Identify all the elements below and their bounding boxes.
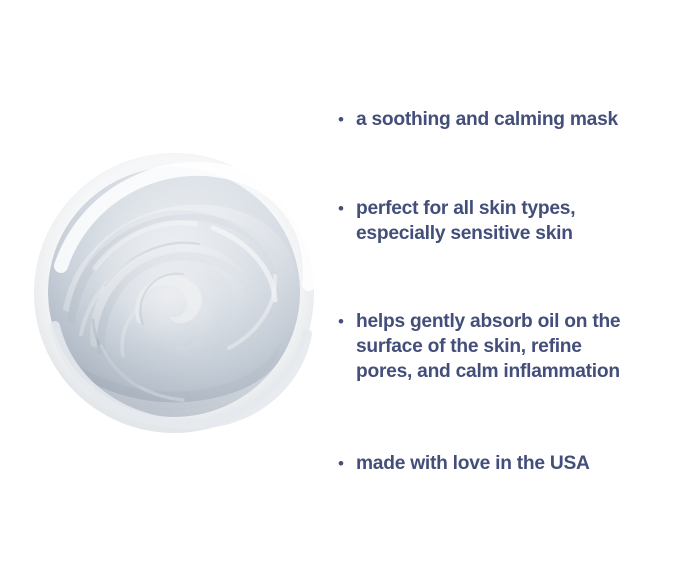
feature-text: helps gently absorb oil on the surface o… xyxy=(356,309,679,384)
feature-text: made with love in the USA xyxy=(356,451,679,476)
bullet-icon: • xyxy=(338,107,356,132)
feature-text: a soothing and calming mask xyxy=(356,107,679,132)
feature-text: perfect for all skin types, especially s… xyxy=(356,196,679,246)
bullet-icon: • xyxy=(338,451,356,476)
bullet-icon: • xyxy=(338,309,356,334)
cream-swirl-illustration xyxy=(33,150,315,434)
bullet-icon: • xyxy=(338,196,356,221)
feature-item-made-in-usa: • made with love in the USA xyxy=(338,451,679,476)
feature-item-soothing: • a soothing and calming mask xyxy=(338,107,679,132)
feature-item-absorb-oil: • helps gently absorb oil on the surface… xyxy=(338,309,679,384)
feature-item-skin-types: • perfect for all skin types, especially… xyxy=(338,196,679,246)
product-image-cream-swirl xyxy=(33,150,315,434)
product-feature-graphic: • a soothing and calming mask • perfect … xyxy=(0,0,679,580)
